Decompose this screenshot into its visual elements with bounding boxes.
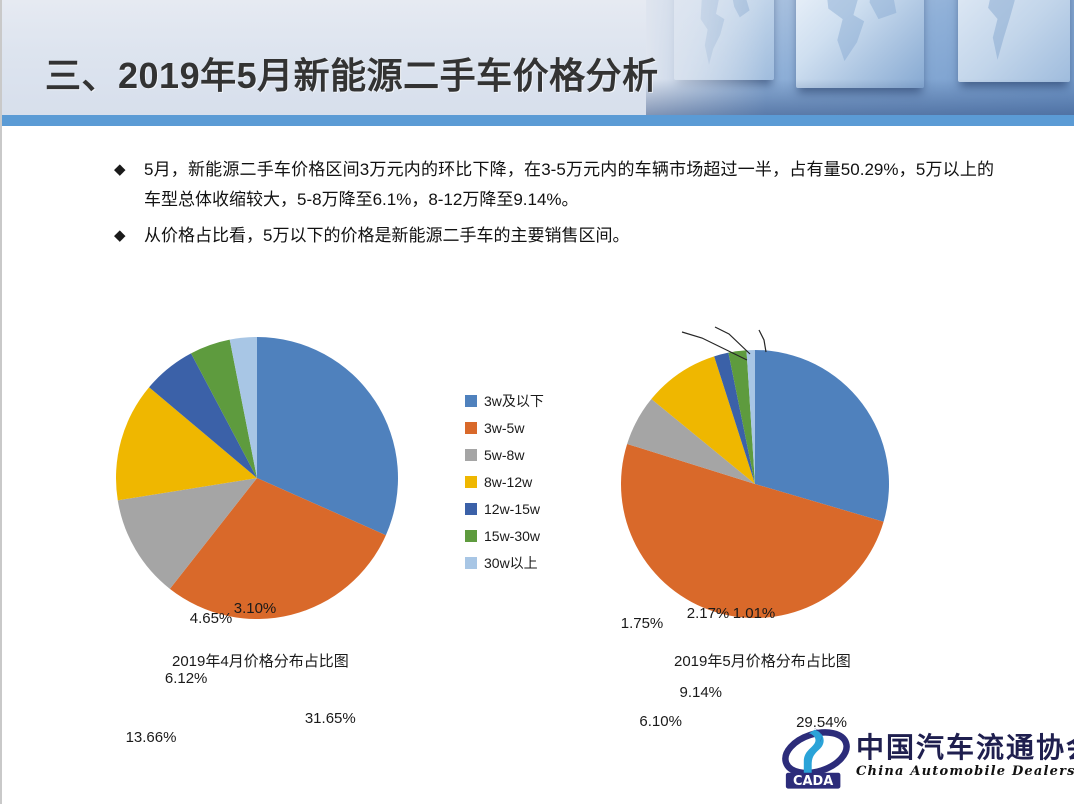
legend-swatch-icon	[465, 503, 477, 515]
cada-logo-icon: CADA	[780, 724, 852, 790]
pie-slice-label: 13.66%	[126, 729, 177, 746]
pie-slice-label: 3.10%	[234, 600, 277, 617]
charts-container: 31.65%28.95%11.87%13.66%6.12%4.65%3.10% …	[2, 290, 1074, 690]
pie-slice-label: 4.65%	[190, 610, 233, 627]
pie-chart-april-svg	[116, 337, 400, 621]
pie-slice-label: 9.14%	[679, 684, 722, 701]
legend-item[interactable]: 3w及以下	[465, 387, 544, 414]
legend-item[interactable]: 5w-8w	[465, 441, 544, 468]
legend-item[interactable]: 3w-5w	[465, 414, 544, 441]
slide: 三、2019年5月新能源二手车价格分析 ◆ 5月，新能源二手车价格区间3万元内的…	[0, 0, 1074, 804]
legend-item[interactable]: 15w-30w	[465, 522, 544, 549]
bullet-item: ◆ 5月，新能源二手车价格区间3万元内的环比下降，在3-5万元内的车辆市场超过一…	[114, 155, 994, 215]
chart-caption-april: 2019年4月价格分布占比图	[172, 650, 349, 671]
legend-swatch-icon	[465, 449, 477, 461]
pie-chart-may-svg	[621, 350, 891, 620]
logo-english-name: China Automobile Dealers Association	[856, 764, 1074, 779]
decorative-cube-icon	[958, 0, 1070, 82]
legend-swatch-icon	[465, 395, 477, 407]
header-accent-bar	[2, 115, 1074, 126]
slide-header: 三、2019年5月新能源二手车价格分析	[2, 0, 1074, 115]
legend-swatch-icon	[465, 557, 477, 569]
page-title: 三、2019年5月新能源二手车价格分析	[45, 47, 659, 99]
legend-item[interactable]: 12w-15w	[465, 495, 544, 522]
chart-caption-may: 2019年5月价格分布占比图	[674, 650, 851, 671]
legend-item[interactable]: 30w以上	[465, 549, 544, 576]
header-decorative-image	[646, 0, 1074, 115]
pie-slice-label: 1.75%	[621, 615, 664, 632]
bullet-item: ◆ 从价格占比看，5万以下的价格是新能源二手车的主要销售区间。	[114, 221, 994, 251]
legend-swatch-icon	[465, 476, 477, 488]
world-map-icon	[814, 0, 904, 78]
legend-label: 3w及以下	[484, 391, 544, 411]
world-map-icon	[974, 0, 1052, 73]
pie-slice-label: 1.01%	[733, 605, 776, 622]
pie-chart-april[interactable]	[116, 337, 400, 621]
header-image-fade	[646, 0, 766, 115]
decorative-cube-icon	[796, 0, 924, 88]
bullet-text: 从价格占比看，5万以下的价格是新能源二手车的主要销售区间。	[144, 221, 994, 251]
pie-slice-label: 2.17%	[687, 605, 730, 622]
pie-chart-may[interactable]	[621, 350, 891, 620]
diamond-bullet-icon: ◆	[114, 221, 144, 251]
organization-logo: CADA 中国汽车流通协会 China Automobile Dealers A…	[780, 722, 1072, 794]
chart-legend: 3w及以下 3w-5w 5w-8w 8w-12w 12w-15w 15w-30w	[465, 387, 544, 576]
pie-slice-label: 31.65%	[305, 710, 356, 727]
legend-label: 8w-12w	[484, 474, 532, 490]
bullet-list: ◆ 5月，新能源二手车价格区间3万元内的环比下降，在3-5万元内的车辆市场超过一…	[114, 155, 994, 257]
legend-label: 3w-5w	[484, 420, 524, 436]
legend-swatch-icon	[465, 530, 477, 542]
legend-item[interactable]: 8w-12w	[465, 468, 544, 495]
cada-acronym: CADA	[793, 774, 833, 789]
diamond-bullet-icon: ◆	[114, 155, 144, 185]
pie-slice-label: 6.12%	[165, 670, 208, 687]
pie-slice-label: 6.10%	[639, 713, 682, 730]
bullet-text: 5月，新能源二手车价格区间3万元内的环比下降，在3-5万元内的车辆市场超过一半，…	[144, 155, 994, 215]
legend-label: 12w-15w	[484, 501, 540, 517]
legend-label: 5w-8w	[484, 447, 524, 463]
logo-chinese-name: 中国汽车流通协会	[856, 726, 1074, 766]
legend-swatch-icon	[465, 422, 477, 434]
legend-label: 30w以上	[484, 553, 538, 573]
legend-label: 15w-30w	[484, 528, 540, 544]
